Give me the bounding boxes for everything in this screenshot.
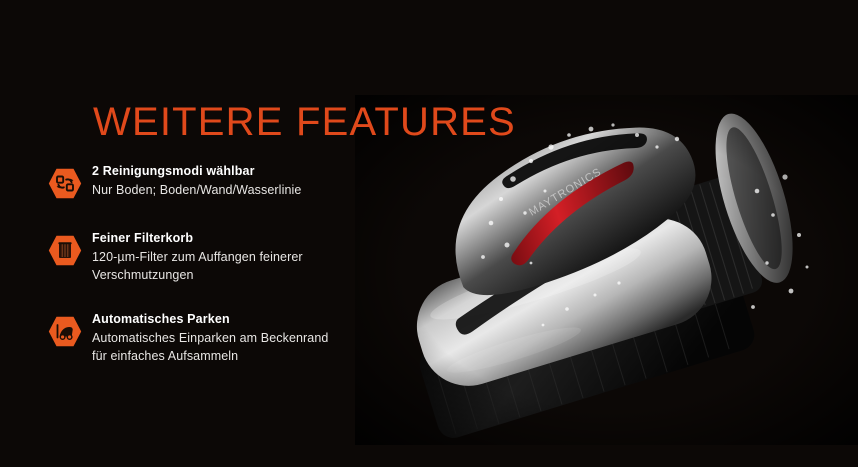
feature-list: 2 Reinigungsmodi wählbar Nur Boden; Bode…	[48, 160, 378, 365]
product-image: MAYTRONICS	[355, 95, 858, 445]
feature-text: Feiner Filterkorb 120-µm-Filter zum Auff…	[92, 227, 303, 284]
feature-description: Automatisches Einparken am Beckenrand fü…	[92, 329, 328, 365]
feature-item: Feiner Filterkorb 120-µm-Filter zum Auff…	[48, 227, 378, 284]
feature-desc-line: Verschmutzungen	[92, 266, 303, 284]
feature-item: Automatisches Parken Automatisches Einpa…	[48, 308, 378, 365]
cleaning-modes-icon	[48, 168, 82, 199]
page-title: WEITERE FEATURES	[93, 101, 516, 143]
auto-parking-icon	[48, 316, 82, 347]
feature-desc-line: 120-µm-Filter zum Auffangen feinerer	[92, 248, 303, 266]
feature-text: 2 Reinigungsmodi wählbar Nur Boden; Bode…	[92, 160, 301, 199]
feature-description: Nur Boden; Boden/Wand/Wasserlinie	[92, 181, 301, 199]
feature-text: Automatisches Parken Automatisches Einpa…	[92, 308, 328, 365]
feature-title: 2 Reinigungsmodi wählbar	[92, 162, 301, 181]
feature-desc-line: Automatisches Einparken am Beckenrand	[92, 329, 328, 347]
svg-text:MAYTRONICS: MAYTRONICS	[527, 166, 604, 219]
feature-title: Feiner Filterkorb	[92, 229, 303, 248]
feature-description: 120-µm-Filter zum Auffangen feinerer Ver…	[92, 248, 303, 284]
feature-item: 2 Reinigungsmodi wählbar Nur Boden; Bode…	[48, 160, 378, 199]
feature-desc-line: Nur Boden; Boden/Wand/Wasserlinie	[92, 181, 301, 199]
feature-title: Automatisches Parken	[92, 310, 328, 329]
slide-root: MAYTRONICS	[0, 0, 858, 467]
feature-desc-line: für einfaches Aufsammeln	[92, 347, 328, 365]
filter-basket-icon	[48, 235, 82, 266]
